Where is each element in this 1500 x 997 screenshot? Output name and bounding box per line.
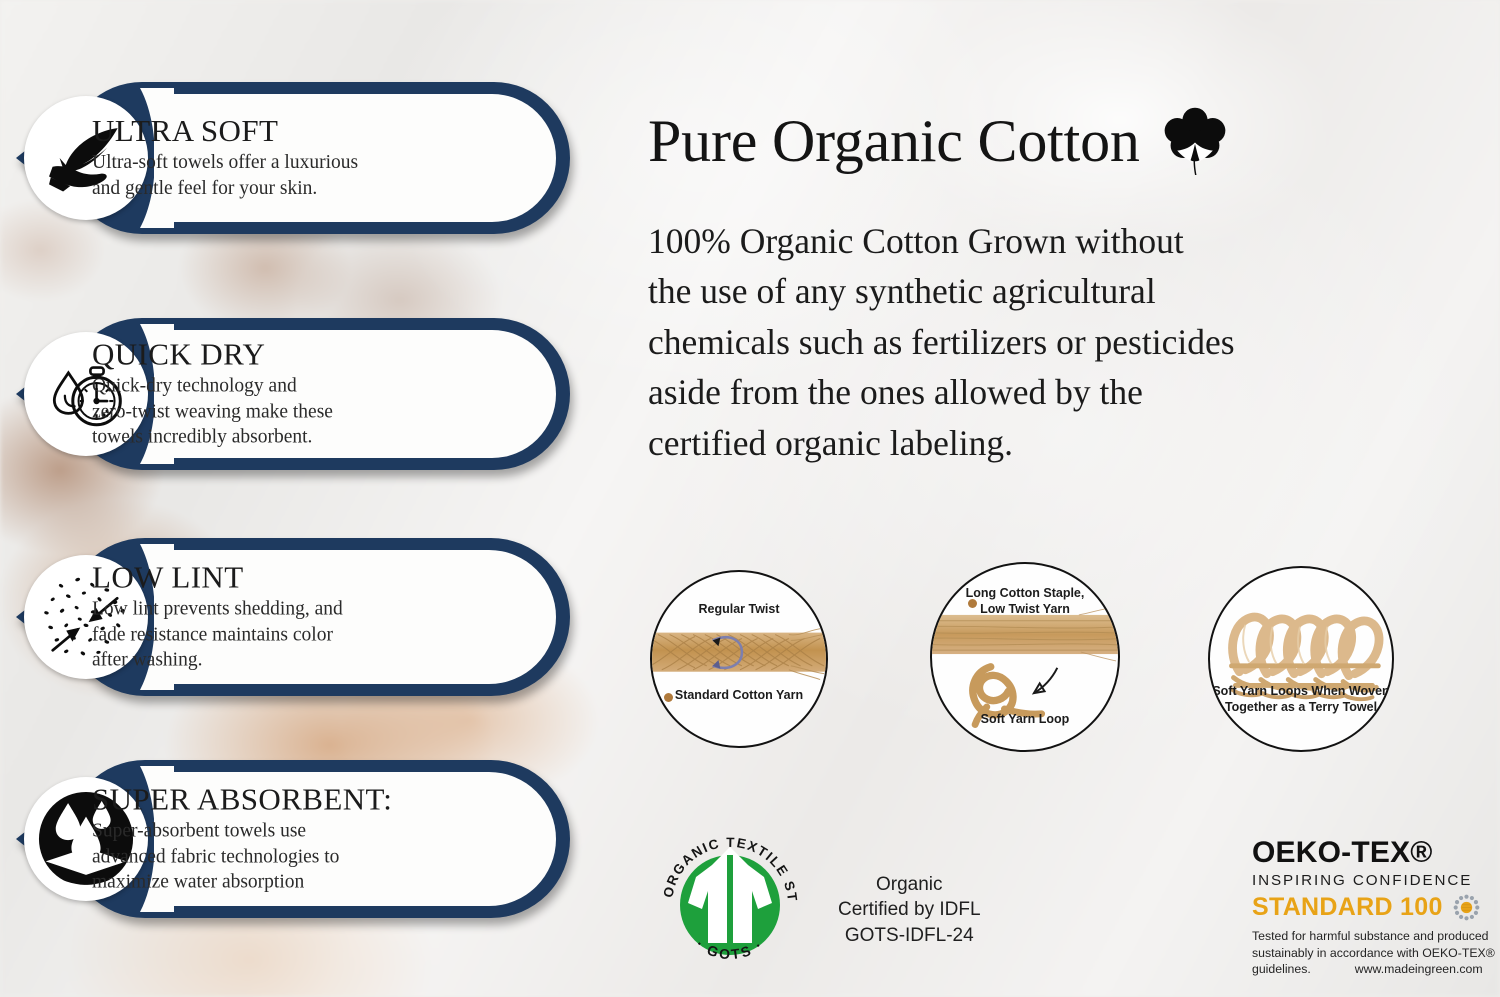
- oeko-tex-url: www.madeingreen.com: [1355, 962, 1483, 976]
- feature-title: SUPER ABSORBENT:: [92, 783, 530, 815]
- hero-headline-row: Pure Organic Cotton: [648, 104, 1232, 178]
- yarn-top-label: Long Cotton Staple, Low Twist Yarn: [932, 586, 1118, 617]
- oeko-tex-note: Tested for harmful substance and produce…: [1252, 928, 1498, 977]
- feature-card-super-absorbent: SUPER ABSORBENT: Super-absorbent towels …: [14, 760, 570, 918]
- terry-loops-illustration: [1210, 568, 1392, 750]
- feature-desc: Ultra-soft towels offer a luxurious and …: [92, 150, 530, 201]
- page-title: Pure Organic Cotton: [648, 111, 1140, 171]
- yarn-bottom-label: Soft Yarn Loops When Woven Together as a…: [1210, 684, 1392, 715]
- oeko-tex-tagline: INSPIRING CONFIDENCE: [1252, 873, 1500, 888]
- feature-title: LOW LINT: [92, 561, 530, 593]
- yarn-diagram-regular-twist: Regular Twist Standard Cotton Yarn: [650, 570, 828, 748]
- feature-card-ultra-soft: ULTRA SOFT Ultra-soft towels offer a lux…: [14, 82, 570, 234]
- feature-text: QUICK DRY Quick-dry technology and zero-…: [92, 338, 530, 449]
- feature-desc: Quick-dry technology and zero-twist weav…: [92, 374, 530, 450]
- feature-desc: Low lint prevents shedding, and fade res…: [92, 597, 530, 673]
- yarn-top-label: Regular Twist: [652, 602, 826, 618]
- gots-caption: Organic Certified by IDFL GOTS-IDFL-24: [838, 872, 981, 948]
- oeko-flower-icon: [1453, 894, 1480, 921]
- feature-card-quick-dry: QUICK DRY Quick-dry technology and zero-…: [14, 318, 570, 470]
- cotton-boll-icon: [1158, 104, 1232, 178]
- feature-text: LOW LINT Low lint prevents shedding, and…: [92, 561, 530, 672]
- feature-text: ULTRA SOFT Ultra-soft towels offer a lux…: [92, 115, 530, 201]
- gots-certification-badge: GLOBAL ORGANIC TEXTILE STANDARD · GOTS ·: [650, 825, 810, 985]
- regular-twist-illustration: [652, 572, 826, 746]
- bullet-dot: [968, 599, 977, 608]
- feature-text: SUPER ABSORBENT: Super-absorbent towels …: [92, 783, 530, 894]
- oeko-tex-standard: STANDARD 100: [1252, 895, 1443, 920]
- feature-title: ULTRA SOFT: [92, 115, 530, 147]
- hero-body-copy: 100% Organic Cotton Grown without the us…: [648, 216, 1478, 468]
- oeko-tex-certification: OEKO-TEX® INSPIRING CONFIDENCE STANDARD …: [1252, 838, 1500, 977]
- yarn-bottom-label: Standard Cotton Yarn: [652, 688, 826, 704]
- feature-title: QUICK DRY: [92, 338, 530, 370]
- yarn-diagram-terry-loops: Soft Yarn Loops When Woven Together as a…: [1208, 566, 1394, 752]
- yarn-diagram-low-twist: Long Cotton Staple, Low Twist Yarn Soft …: [930, 562, 1120, 752]
- oeko-tex-name: OEKO-TEX®: [1252, 838, 1500, 868]
- feature-desc: Super-absorbent towels use advanced fabr…: [92, 819, 530, 895]
- feature-card-low-lint: LOW LINT Low lint prevents shedding, and…: [14, 538, 570, 696]
- yarn-bottom-label: Soft Yarn Loop: [932, 712, 1118, 728]
